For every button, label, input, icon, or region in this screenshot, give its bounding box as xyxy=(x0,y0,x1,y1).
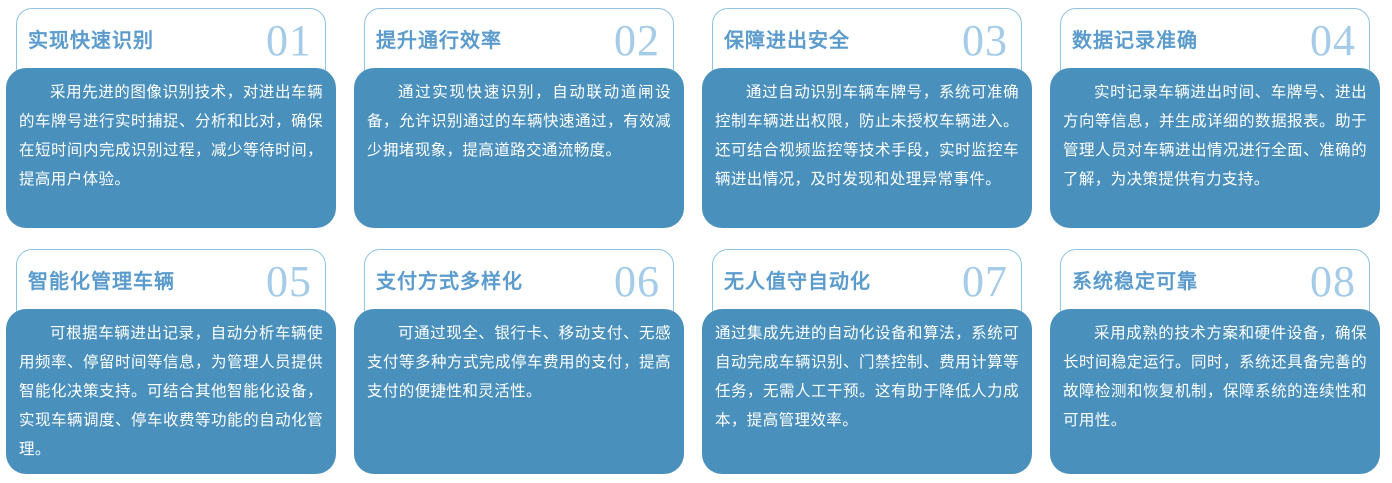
card-body: 采用先进的图像识别技术，对进出车辆的车牌号进行实时捕捉、分析和比对，确保在短时间… xyxy=(6,68,336,228)
card-body: 实时记录车辆进出时间、车牌号、进出方向等信息，并生成详细的数据报表。助于管理人员… xyxy=(1050,68,1380,228)
card-description: 通过集成先进的自动化设备和算法，系统可自动完成车辆识别、门禁控制、费用计算等任务… xyxy=(715,319,1019,435)
feature-card-04[interactable]: 数据记录准确 04 实时记录车辆进出时间、车牌号、进出方向等信息，并生成详细的数… xyxy=(1044,0,1392,241)
card-number: 06 xyxy=(614,260,660,304)
card-body: 可根据车辆进出记录，自动分析车辆使用频率、停留时间等信息，为管理人员提供智能化决… xyxy=(6,309,336,474)
feature-card-05[interactable]: 智能化管理车辆 05 可根据车辆进出记录，自动分析车辆使用频率、停留时间等信息，… xyxy=(0,241,348,482)
card-body: 通过集成先进的自动化设备和算法，系统可自动完成车辆识别、门禁控制、费用计算等任务… xyxy=(702,309,1032,474)
card-header: 智能化管理车辆 05 xyxy=(16,249,326,315)
feature-card-06[interactable]: 支付方式多样化 06 可通过现全、银行卡、移动支付、无感支付等多种方式完成停车费… xyxy=(348,241,696,482)
card-description: 实时记录车辆进出时间、车牌号、进出方向等信息，并生成详细的数据报表。助于管理人员… xyxy=(1063,78,1367,194)
card-number: 05 xyxy=(266,260,312,304)
card-description: 通过自动识别车辆车牌号，系统可准确控制车辆进出权限，防止未授权车辆进入。还可结合… xyxy=(715,78,1019,194)
card-description: 通过实现快速识别，自动联动道闸设备，允许识别通过的车辆快速通过，有效减少拥堵现象… xyxy=(367,78,671,165)
card-header: 提升通行效率 02 xyxy=(364,8,674,74)
card-header: 支付方式多样化 06 xyxy=(364,249,674,315)
card-title: 支付方式多样化 xyxy=(376,272,523,292)
card-number: 08 xyxy=(1310,260,1356,304)
card-body: 通过实现快速识别，自动联动道闸设备，允许识别通过的车辆快速通过，有效减少拥堵现象… xyxy=(354,68,684,228)
card-description: 可通过现全、银行卡、移动支付、无感支付等多种方式完成停车费用的支付，提高支付的便… xyxy=(367,319,671,406)
card-number: 02 xyxy=(614,19,660,63)
card-number: 04 xyxy=(1310,19,1356,63)
card-header: 数据记录准确 04 xyxy=(1060,8,1370,74)
card-title: 系统稳定可靠 xyxy=(1072,272,1198,292)
feature-card-01[interactable]: 实现快速识别 01 采用先进的图像识别技术，对进出车辆的车牌号进行实时捕捉、分析… xyxy=(0,0,348,241)
card-title: 智能化管理车辆 xyxy=(28,272,175,292)
card-header: 保障进出安全 03 xyxy=(712,8,1022,74)
card-number: 07 xyxy=(962,260,1008,304)
card-title: 提升通行效率 xyxy=(376,31,502,51)
card-body: 采用成熟的技术方案和硬件设备，确保长时间稳定运行。同时，系统还具备完善的故障检测… xyxy=(1050,309,1380,474)
card-description: 采用先进的图像识别技术，对进出车辆的车牌号进行实时捕捉、分析和比对，确保在短时间… xyxy=(19,78,323,194)
feature-card-08[interactable]: 系统稳定可靠 08 采用成熟的技术方案和硬件设备，确保长时间稳定运行。同时，系统… xyxy=(1044,241,1392,482)
card-number: 03 xyxy=(962,19,1008,63)
card-header: 系统稳定可靠 08 xyxy=(1060,249,1370,315)
card-header: 无人值守自动化 07 xyxy=(712,249,1022,315)
card-description: 可根据车辆进出记录，自动分析车辆使用频率、停留时间等信息，为管理人员提供智能化决… xyxy=(19,319,323,464)
feature-card-07[interactable]: 无人值守自动化 07 通过集成先进的自动化设备和算法，系统可自动完成车辆识别、门… xyxy=(696,241,1044,482)
card-title: 数据记录准确 xyxy=(1072,31,1198,51)
card-header: 实现快速识别 01 xyxy=(16,8,326,74)
card-body: 通过自动识别车辆车牌号，系统可准确控制车辆进出权限，防止未授权车辆进入。还可结合… xyxy=(702,68,1032,228)
feature-card-grid: 实现快速识别 01 采用先进的图像识别技术，对进出车辆的车牌号进行实时捕捉、分析… xyxy=(0,0,1392,483)
card-title: 保障进出安全 xyxy=(724,31,850,51)
feature-card-02[interactable]: 提升通行效率 02 通过实现快速识别，自动联动道闸设备，允许识别通过的车辆快速通… xyxy=(348,0,696,241)
card-title: 实现快速识别 xyxy=(28,31,154,51)
card-title: 无人值守自动化 xyxy=(724,272,871,292)
card-description: 采用成熟的技术方案和硬件设备，确保长时间稳定运行。同时，系统还具备完善的故障检测… xyxy=(1063,319,1367,435)
feature-card-03[interactable]: 保障进出安全 03 通过自动识别车辆车牌号，系统可准确控制车辆进出权限，防止未授… xyxy=(696,0,1044,241)
card-number: 01 xyxy=(266,19,312,63)
card-body: 可通过现全、银行卡、移动支付、无感支付等多种方式完成停车费用的支付，提高支付的便… xyxy=(354,309,684,474)
